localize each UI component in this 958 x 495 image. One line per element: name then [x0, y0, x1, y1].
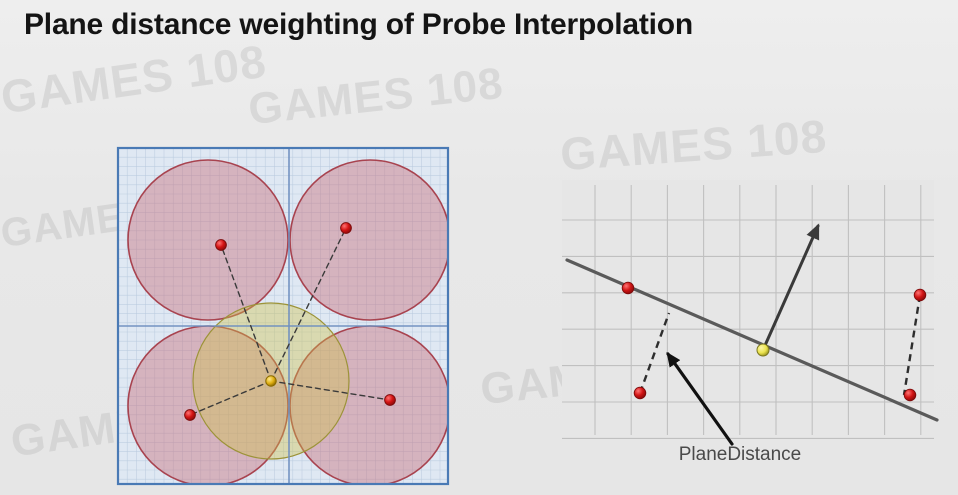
watermark-text: GAMES 108 [558, 109, 828, 182]
probe-top-left-dot [216, 240, 227, 251]
interpolation-sample-dot [266, 376, 276, 386]
probe-on-plane-left-dot [622, 282, 634, 294]
plane-distance-figure: PlaneDistance [552, 172, 952, 477]
probe-bottom-left-dot [185, 410, 196, 421]
plane-distance-svg: PlaneDistance [552, 172, 952, 477]
probe-top-right-dot [341, 223, 352, 234]
watermark-text: GAMES 108 [0, 34, 270, 125]
probe-grid-svg [112, 142, 452, 490]
probe-top-left-influence-circle [128, 160, 288, 320]
probe-above-plane-right-dot [914, 289, 926, 301]
page-title: Plane distance weighting of Probe Interp… [24, 8, 693, 42]
slide-canvas: GAMES 108GAMES 108GAMES 108GAMES 108GAME… [0, 0, 958, 495]
plane-grid [562, 180, 934, 448]
probe-bottom-right-dot [385, 395, 396, 406]
probe-below-plane-left-dot [634, 387, 646, 399]
probe-top-right-influence-circle [290, 160, 450, 320]
probe-on-plane-right-dot [904, 389, 916, 401]
plane-distance-label: PlaneDistance [679, 444, 802, 465]
plane-sample-point [757, 344, 769, 356]
watermark-text: GAMES 108 [246, 59, 506, 135]
probe-grid-figure [112, 142, 452, 490]
